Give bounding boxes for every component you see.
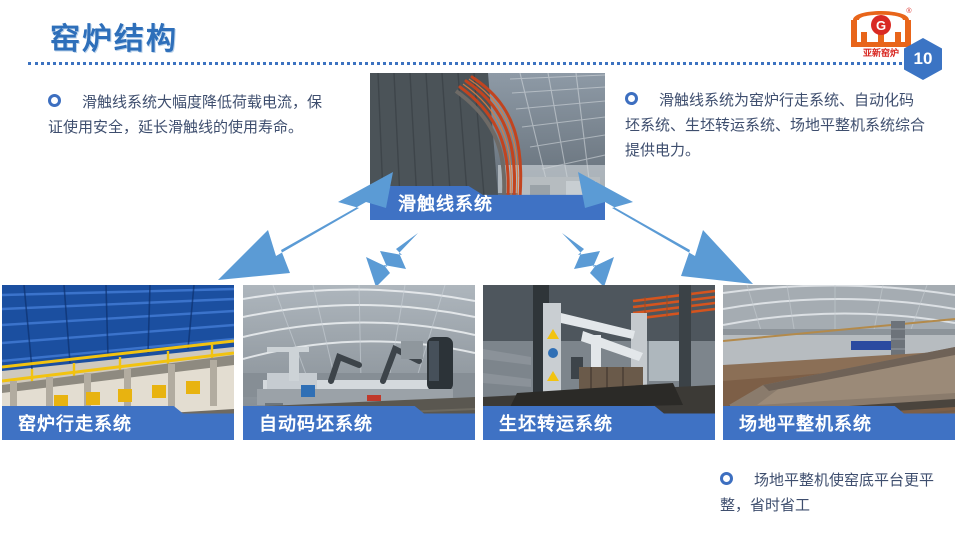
page-number: 10 — [904, 38, 942, 80]
photo-card-auto-stacking[interactable]: 自动码坯系统 — [243, 285, 475, 440]
bullet-ring-icon — [720, 472, 733, 485]
title-divider — [28, 62, 908, 65]
page-title: 窑炉结构 — [50, 14, 178, 58]
photo-card-busbar[interactable]: 滑触线系统 — [370, 73, 605, 220]
slide-canvas: 窑炉结构 G ® 亚新窑炉 10 滑触线系统大幅度降低荷载电流，保证使用安全，延… — [0, 0, 960, 540]
svg-text:®: ® — [906, 7, 912, 15]
bullet-left: 滑触线系统大幅度降低荷载电流，保证使用安全，延长滑触线的使用寿命。 — [48, 90, 328, 140]
bullet-ring-icon — [48, 94, 61, 107]
photo-card-ground-leveler[interactable]: 场地平整机系统 — [723, 285, 955, 440]
page-number-badge: 10 — [904, 38, 942, 80]
svg-text:G: G — [876, 18, 886, 33]
bullet-ring-icon — [625, 92, 638, 105]
svg-text:亚新窑炉: 亚新窑炉 — [863, 47, 899, 58]
photo-card-kiln-travel[interactable]: 窑炉行走系统 — [2, 285, 234, 440]
bullet-bottom-text: 场地平整机使窑底平台更平整，省时省工 — [720, 468, 960, 518]
bullet-left-text: 滑触线系统大幅度降低荷载电流，保证使用安全，延长滑触线的使用寿命。 — [48, 90, 328, 140]
photo-card-green-brick-transfer[interactable]: 生坯转运系统 — [483, 285, 715, 440]
bullet-right-text: 滑触线系统为窑炉行走系统、自动化码坯系统、生坯转运系统、场地平整机系统综合提供电… — [625, 88, 925, 163]
bullet-right: 滑触线系统为窑炉行走系统、自动化码坯系统、生坯转运系统、场地平整机系统综合提供电… — [625, 88, 925, 163]
arrow-down-left-small-icon — [366, 233, 418, 287]
arrow-down-right-large-icon — [578, 172, 753, 290]
bullet-bottom: 场地平整机使窑底平台更平整，省时省工 — [720, 468, 960, 518]
